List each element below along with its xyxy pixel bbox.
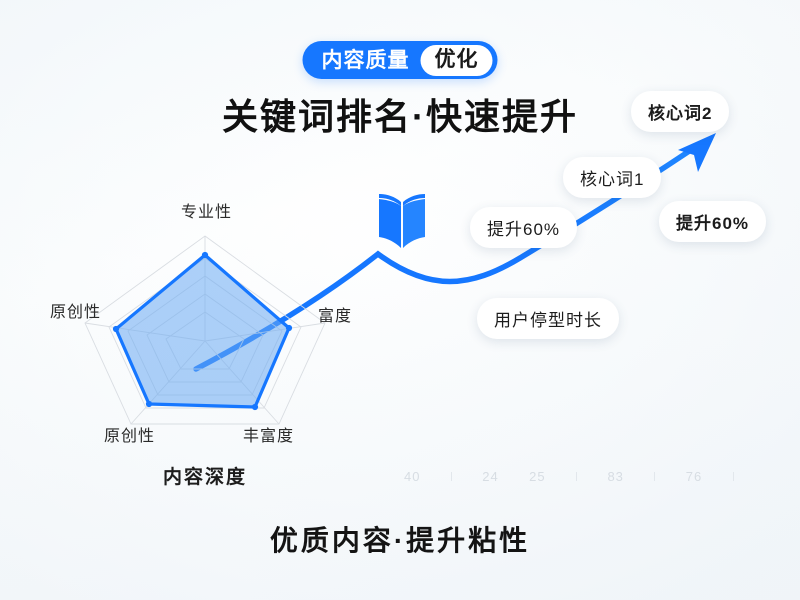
poster-canvas: 内容质量 优化 关键词排名·快速提升 <box>0 0 800 600</box>
tick-mark <box>733 472 734 481</box>
tick-value: 24 <box>482 469 498 484</box>
radar-chart-svg <box>60 218 350 433</box>
badge-main-label: 内容质量 <box>303 50 421 71</box>
tick-mark <box>451 472 452 481</box>
tick-value: 40 <box>404 469 420 484</box>
quality-badge: 内容质量 优化 <box>303 41 498 79</box>
badge-chip-label: 优化 <box>421 45 493 76</box>
radar-axis-label-left: 原创性 <box>50 298 101 322</box>
tick-mark <box>654 472 655 481</box>
radar-axis-label-bottom-right: 丰富度 <box>243 422 294 446</box>
pill-uplift-left: 提升60% <box>470 207 577 248</box>
bottom-title: 优质内容·提升粘性 <box>0 519 800 559</box>
radar-axis-label-right: 富度 <box>318 302 352 326</box>
radar-chart <box>60 218 350 433</box>
radar-caption: 内容深度 <box>163 462 247 489</box>
open-book-icon <box>374 186 430 250</box>
tick-value: 76 <box>686 469 702 484</box>
pill-keyword-2: 核心词2 <box>631 91 729 132</box>
pill-keyword-1: 核心词1 <box>563 157 661 198</box>
tick-mark <box>576 472 577 481</box>
radar-axis-label-top: 专业性 <box>181 198 232 222</box>
tick-value: 25 <box>529 469 545 484</box>
pill-uplift-right: 提升60% <box>659 201 766 242</box>
radar-axis-label-bottom-left: 原创性 <box>104 422 155 446</box>
tick-value: 83 <box>607 469 623 484</box>
faint-tick-axis: 40 24 25 83 76 <box>404 463 764 489</box>
pill-dwell-time: 用户停型时长 <box>477 298 619 339</box>
